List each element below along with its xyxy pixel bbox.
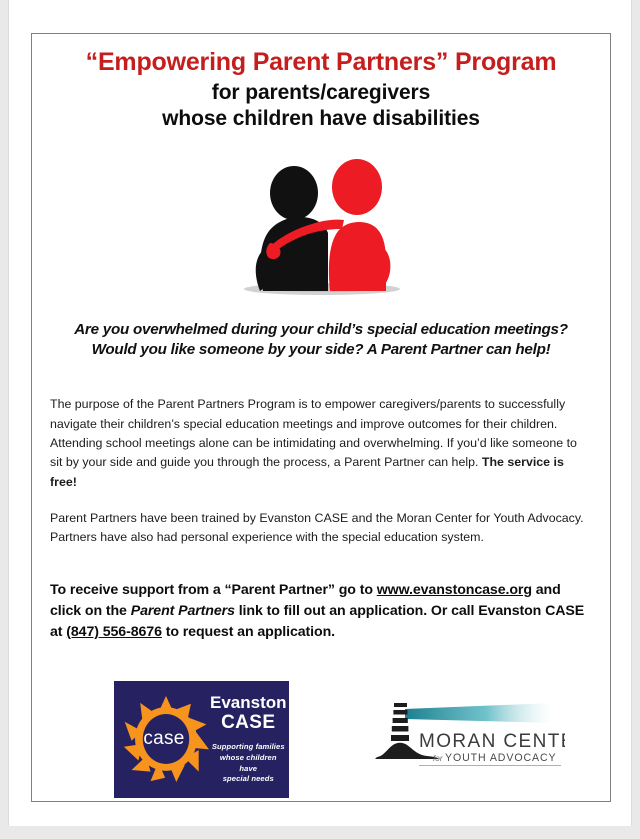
- hook-line-1: Are you overwhelmed during your child’s …: [74, 321, 568, 338]
- moran-tagline: YOUTH ADVOCACY: [445, 752, 557, 764]
- case-name-line-1: Evanston: [210, 693, 287, 712]
- moran-center-logo: MORAN CENTER for YOUTH ADVOCACY: [375, 699, 565, 771]
- website-link[interactable]: www.evanstoncase.org: [377, 582, 532, 598]
- moran-center-wordmark: MORAN CENTER: [419, 731, 565, 752]
- paragraph-trained: Parent Partners have been trained by Eva…: [50, 509, 592, 548]
- case-sun-mark: case: [118, 689, 210, 789]
- hook-statement: Are you overwhelmed during your child’s …: [32, 320, 610, 360]
- two-figures-svg: [214, 143, 429, 303]
- sun-icon: [123, 695, 209, 783]
- cta-segment-1: To receive support from a “Parent Partne…: [50, 582, 377, 598]
- subtitle-line-2: whose children have disabilities: [32, 106, 610, 132]
- document-border-frame: “Empowering Parent Partners” Program for…: [31, 33, 611, 802]
- evanston-case-logo: case Evanston CASE Supporting families w…: [114, 681, 289, 798]
- moran-for-prefix: for: [433, 754, 443, 763]
- call-to-action: To receive support from a “Parent Partne…: [50, 580, 592, 643]
- screenshot-viewport: “Empowering Parent Partners” Program for…: [0, 0, 640, 839]
- case-tagline-line-3: special needs: [210, 774, 287, 785]
- moran-center-svg: MORAN CENTER for YOUTH ADVOCACY: [375, 699, 565, 771]
- parent-partners-link-name[interactable]: Parent Partners: [131, 603, 235, 619]
- document-page-sheet: “Empowering Parent Partners” Program for…: [8, 0, 632, 826]
- two-seated-figures-illustration: [214, 143, 429, 303]
- hook-line-2: Would you like someone by your side? A P…: [40, 340, 602, 360]
- logo-row: case Evanston CASE Supporting families w…: [50, 681, 592, 801]
- page-title: “Empowering Parent Partners” Program: [32, 48, 610, 76]
- case-name-line-2: CASE: [210, 712, 287, 735]
- paragraph-purpose: The purpose of the Parent Partners Progr…: [50, 395, 592, 492]
- body-copy: The purpose of the Parent Partners Progr…: [32, 395, 610, 800]
- cta-segment-4: to request an application.: [162, 624, 335, 640]
- document-content: “Empowering Parent Partners” Program for…: [32, 34, 610, 801]
- lighthouse-beam: [405, 703, 553, 723]
- case-text-block: Evanston CASE Supporting families whose …: [210, 693, 291, 785]
- title-block: “Empowering Parent Partners” Program for…: [32, 34, 610, 131]
- case-tagline-line-1: Supporting families: [210, 742, 287, 753]
- case-tagline: Supporting families whose children have …: [210, 742, 287, 785]
- case-tagline-line-2: whose children have: [210, 753, 287, 775]
- subtitle-line-1: for parents/caregivers: [32, 80, 610, 106]
- phone-number[interactable]: (847) 556-8676: [66, 624, 162, 640]
